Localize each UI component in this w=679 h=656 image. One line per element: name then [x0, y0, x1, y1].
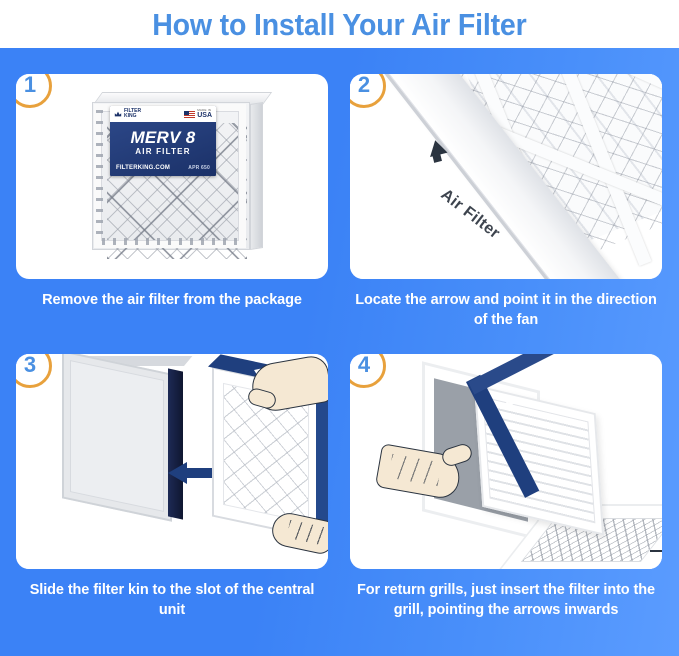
step-number-4: 4	[358, 354, 370, 376]
country-text: USA	[197, 112, 212, 119]
step-caption-2: Locate the arrow and point it in the dir…	[350, 290, 662, 330]
step-caption-4: For return grills, just insert the filte…	[350, 580, 662, 620]
header-band: How to Install Your Air Filter	[0, 0, 679, 48]
step-number-2: 2	[358, 74, 370, 96]
filter-king-logo: FILTER KING	[114, 109, 141, 120]
filter-product-label: FILTER KING	[110, 106, 216, 176]
step-panel-3: 3 Slide the filter kin to the slot of th…	[16, 354, 328, 650]
step-3-card: 3	[16, 354, 328, 569]
filter-side-edge	[250, 102, 263, 250]
page-title: How to Install Your Air Filter	[152, 9, 526, 40]
step-4-card: 4	[350, 354, 662, 569]
step-2-card: Air Filter 2	[350, 74, 662, 279]
step-1-card: FILTER KING	[16, 74, 328, 279]
step-panel-4: 4 For return grills, just insert the fil…	[350, 354, 662, 650]
apr-rating-text: APR 650	[188, 165, 210, 171]
arrow-head	[168, 462, 187, 484]
steps-background: FILTER KING	[0, 48, 679, 656]
flag-canton	[184, 111, 189, 115]
made-in-usa-badge: MADE IN USA	[184, 109, 212, 119]
website-text: FILTERKING.COM	[116, 165, 170, 171]
filter-corner-photo: Air Filter	[350, 74, 662, 279]
slide-filter-illustration	[16, 354, 328, 569]
ceiling-edge-line	[650, 550, 662, 552]
step-badge-1: 1	[16, 74, 52, 108]
crown-icon	[114, 110, 122, 118]
merv-rating-text: MERV 8	[110, 128, 216, 148]
steps-grid: FILTER KING	[0, 48, 679, 656]
filter-tabs-left	[96, 110, 103, 242]
usa-flag-icon	[184, 111, 195, 118]
label-footer-strip: FILTERKING.COM APR 650	[116, 165, 210, 171]
central-unit-dark-edge	[168, 368, 183, 519]
usa-text-block: MADE IN USA	[197, 109, 212, 119]
filter-tabs-bottom	[102, 238, 238, 245]
central-unit-slot	[70, 360, 164, 512]
label-header-strip: FILTER KING	[110, 106, 216, 122]
air-filter-product-photo: FILTER KING	[86, 88, 264, 266]
step-number-3: 3	[24, 354, 36, 376]
step-caption-3: Slide the filter kin to the slot of the …	[16, 580, 328, 620]
infographic-root: How to Install Your Air Filter	[0, 0, 679, 656]
step-caption-1: Remove the air filter from the package	[16, 290, 328, 310]
step-panel-2: Air Filter 2 Locate the arrow and point …	[350, 74, 662, 354]
return-grill-illustration	[350, 354, 662, 569]
step-panel-1: FILTER KING	[16, 74, 328, 354]
brand-text: FILTER KING	[124, 109, 141, 120]
label-subtitle: AIR FILTER	[110, 147, 216, 156]
step-number-1: 1	[24, 74, 36, 96]
brand-line-2: KING	[124, 114, 141, 119]
